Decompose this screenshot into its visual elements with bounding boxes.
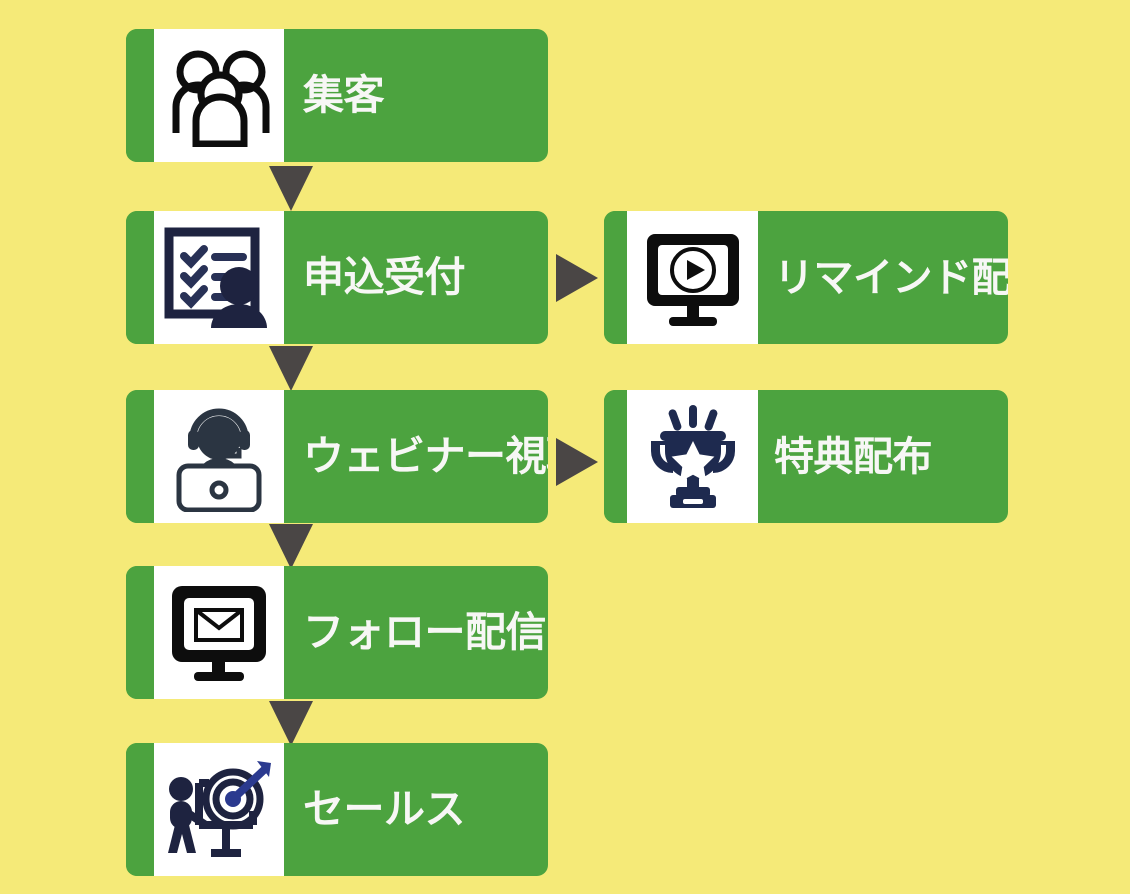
- card-accent-strip: [604, 390, 627, 523]
- branch-label: 特典配布: [758, 390, 1008, 523]
- card-accent-strip: [126, 390, 154, 523]
- icon-tile: [627, 390, 758, 523]
- monitor-envelope-icon: [166, 580, 272, 686]
- step-label: セールス: [284, 743, 548, 876]
- icon-tile: [154, 566, 284, 699]
- branch-card-bonus[interactable]: 特典配布: [604, 390, 1008, 523]
- icon-tile: [154, 390, 284, 523]
- arrow-down-icon: [269, 701, 313, 746]
- trophy-star-icon: [643, 403, 743, 511]
- step-card-acquisition[interactable]: 集客: [126, 29, 548, 162]
- step-label: 申込受付: [284, 211, 548, 344]
- arrow-down-icon: [269, 346, 313, 391]
- step-label: ウェビナー視聴: [284, 390, 548, 523]
- card-accent-strip: [126, 566, 154, 699]
- step-card-sales[interactable]: セールス: [126, 743, 548, 876]
- branch-card-reminder[interactable]: リマインド配信: [604, 211, 1008, 344]
- icon-tile: [627, 211, 758, 344]
- step-card-application[interactable]: 申込受付: [126, 211, 548, 344]
- step-card-webinar[interactable]: ウェビナー視聴: [126, 390, 548, 523]
- checklist-person-icon: [163, 226, 275, 330]
- step-label: フォロー配信: [284, 566, 548, 699]
- arrow-down-icon: [269, 166, 313, 211]
- flowchart-diagram: 集客: [0, 0, 1130, 894]
- headset-person-laptop-icon: [167, 402, 271, 512]
- person-target-board-icon: [161, 757, 277, 863]
- card-accent-strip: [126, 29, 154, 162]
- icon-tile: [154, 211, 284, 344]
- card-accent-strip: [604, 211, 627, 344]
- arrow-down-icon: [269, 524, 313, 569]
- group-of-people-icon: [165, 45, 273, 147]
- icon-tile: [154, 29, 284, 162]
- step-label: 集客: [284, 29, 548, 162]
- step-card-followup[interactable]: フォロー配信: [126, 566, 548, 699]
- arrow-right-icon: [556, 254, 598, 302]
- branch-label: リマインド配信: [758, 211, 1008, 344]
- card-accent-strip: [126, 211, 154, 344]
- arrow-right-icon: [556, 438, 598, 486]
- card-accent-strip: [126, 743, 154, 876]
- icon-tile: [154, 743, 284, 876]
- monitor-play-icon: [641, 226, 745, 330]
